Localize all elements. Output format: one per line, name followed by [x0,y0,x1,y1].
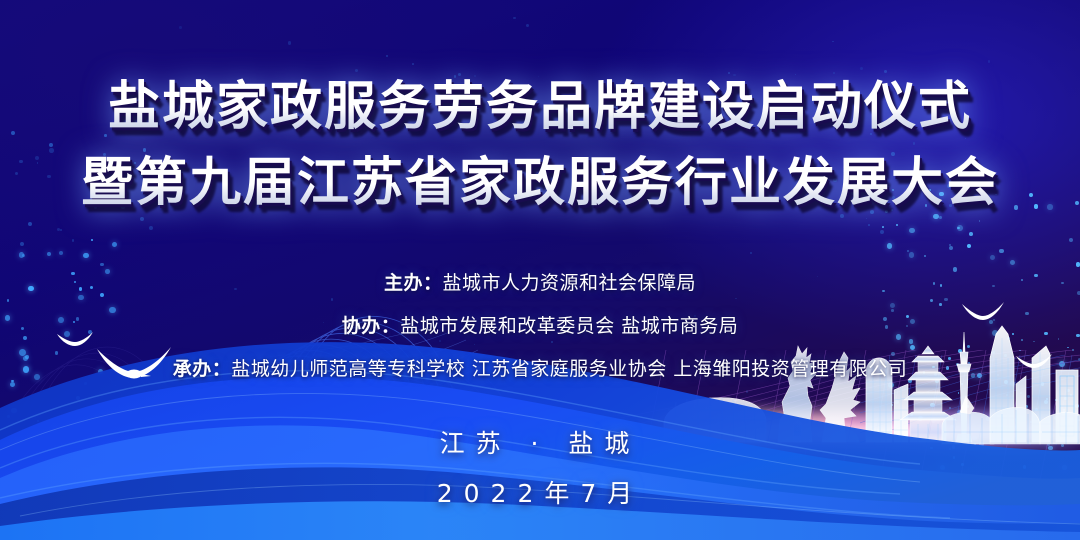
event-date: 2022年7月 [0,474,1080,510]
particle-dot [866,218,867,219]
particle-dot [288,41,291,44]
organizer-list: 主办：盐城市人力资源和社会保障局 协办：盐城市发展和改革委员会 盐城市商务局 承… [0,262,1080,391]
organizer-value-coorganizer: 盐城市发展和改革委员会 盐城市商务局 [400,315,738,337]
particle-dot [526,24,529,27]
particle-dot [91,239,93,241]
particle-dot [72,239,74,241]
particle-dot [999,249,1003,253]
event-location: 江苏 · 盐城 [0,424,1080,460]
particle-dot [19,252,25,258]
particle-dot [140,217,144,221]
particle-dot [832,41,834,43]
particle-dot [880,230,884,234]
particle-dot [513,17,516,20]
particle-dot [112,242,117,247]
particle-dot [967,244,971,248]
particle-dot [882,226,884,228]
particle-dot [969,232,973,236]
particle-dot [949,246,953,250]
particle-dot [896,224,898,226]
particle-dot [59,251,64,256]
particle-dot [28,222,33,227]
organizer-row-host: 主办：盐城市人力资源和社会保障局 [0,262,1080,305]
organizer-label-coorganizer: 协办： [342,315,401,337]
particle-dot [907,250,909,252]
particle-dot [47,252,52,257]
particle-dot [750,252,752,254]
particle-dot [412,63,414,65]
particle-dot [1069,238,1073,242]
particle-dot [939,216,942,219]
particle-dot [860,67,863,70]
particle-dot [149,226,153,230]
organizer-label-undertaker: 承办： [173,358,232,380]
particle-dot [355,69,358,72]
organizer-label-host: 主办： [384,272,443,294]
organizer-value-host: 盐城市人力资源和社会保障局 [443,272,697,294]
particle-dot [979,220,981,222]
particle-dot [990,255,996,261]
particle-dot [988,60,991,63]
particle-dot [909,228,915,234]
particle-dot [868,224,870,226]
particle-dot [924,255,926,257]
particle-dot [20,242,24,246]
title-block: 盐城家政服务劳务品牌建设启动仪式 暨第九届江苏省家政服务行业发展大会 [0,74,1080,216]
particle-dot [884,70,887,73]
particle-dot [179,26,182,29]
particle-dot [60,229,62,231]
particle-dot [887,243,893,249]
particle-dot [83,253,88,258]
particle-dot [386,55,388,57]
organizer-value-undertaker: 盐城幼儿师范高等专科学校 江苏省家庭服务业协会 上海雏阳投资管理有限公司 [231,358,907,380]
organizer-row-coorganizer: 协办：盐城市发展和改革委员会 盐城市商务局 [0,305,1080,348]
event-banner: 盐城家政服务劳务品牌建设启动仪式 暨第九届江苏省家政服务行业发展大会 主办：盐城… [0,0,1080,540]
particle-dot [909,252,915,258]
page-title-line-2: 暨第九届江苏省家政服务行业发展大会 [0,150,1080,216]
organizer-row-undertaker: 承办：盐城幼儿师范高等专科学校 江苏省家庭服务业协会 上海雏阳投资管理有限公司 [0,348,1080,391]
page-title-line-1: 盐城家政服务劳务品牌建设启动仪式 [0,74,1080,140]
footer-block: 江苏 · 盐城 2022年7月 [0,424,1080,510]
